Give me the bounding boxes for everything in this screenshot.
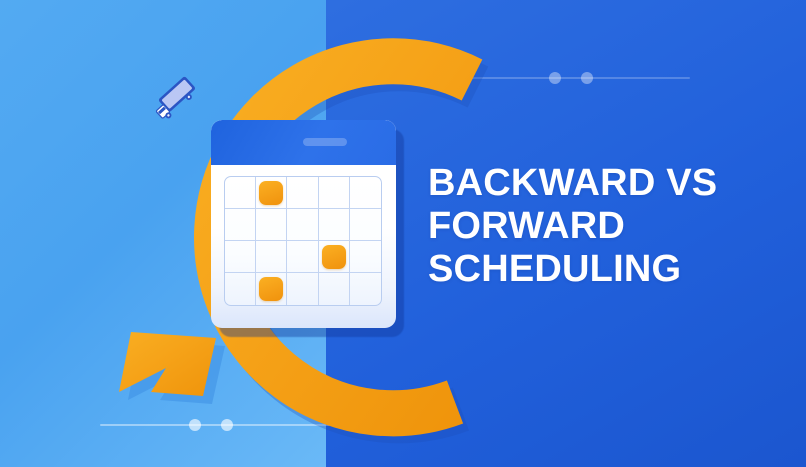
page-title-line-2: FORWARD (428, 205, 778, 248)
page-title: BACKWARD VS FORWARD SCHEDULING (428, 162, 778, 291)
page-title-line-1: BACKWARD VS (428, 162, 778, 205)
calendar-header (211, 120, 396, 165)
calendar-cell (225, 241, 256, 273)
calendar-cell (256, 209, 287, 241)
calendar-cell-marked (256, 273, 287, 305)
calendar-cell-marked (319, 241, 350, 273)
calendar-body (211, 120, 396, 328)
calendar-icon (211, 120, 396, 332)
calendar-cell (287, 273, 318, 305)
calendar-cell (287, 241, 318, 273)
calendar-cell (225, 209, 256, 241)
calendar-cell (256, 241, 287, 273)
calendar-cell (350, 177, 381, 209)
calendar-cell (319, 177, 350, 209)
calendar-cell (225, 273, 256, 305)
calendar-cell (319, 209, 350, 241)
calendar-grid (224, 176, 382, 306)
circular-arrow-head (119, 332, 225, 404)
calendar-cell (319, 273, 350, 305)
calendar-cell-marked (256, 177, 287, 209)
calendar-cell (350, 209, 381, 241)
calendar-cell (350, 273, 381, 305)
calendar-cell (225, 177, 256, 209)
banner-graphic: BACKWARD VS FORWARD SCHEDULING (0, 0, 806, 467)
calendar-cell (287, 177, 318, 209)
page-title-line-3: SCHEDULING (428, 248, 778, 291)
calendar-cell (287, 209, 318, 241)
calendar-header-pill (303, 138, 347, 146)
calendar-cell (350, 241, 381, 273)
